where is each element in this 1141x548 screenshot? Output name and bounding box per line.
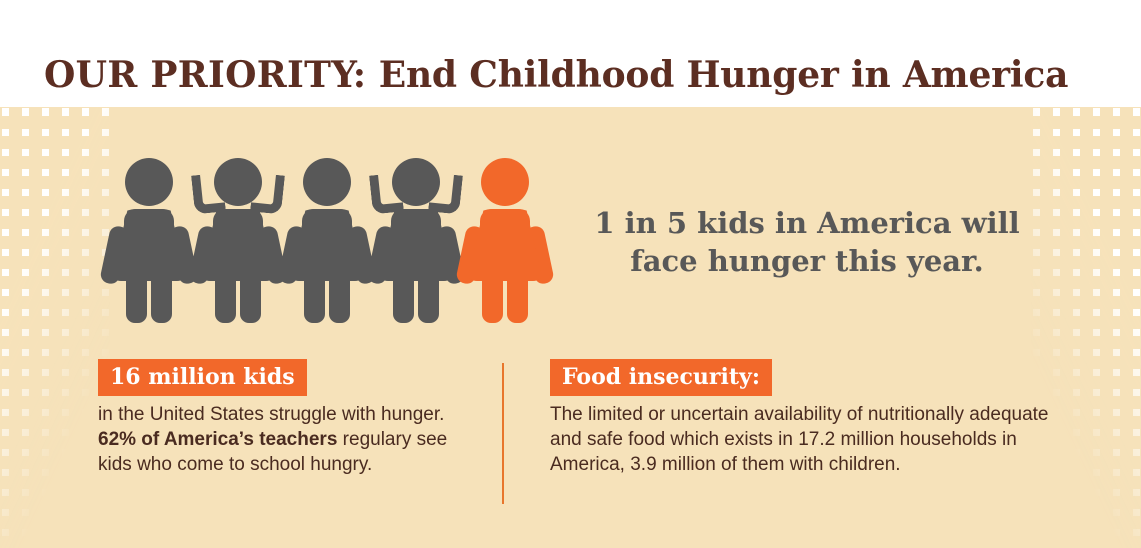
left-text-bold-teachers: 62% of America’s teachers [98, 429, 337, 450]
content-panel: 1 in 5 kids in America will face hunger … [0, 107, 1141, 548]
badge-food-insecurity: Food insecurity: [550, 359, 772, 396]
headline-line-1: 1 in 5 kids in America will [566, 204, 1048, 242]
infographic-root: OUR PRIORITY: End Childhood Hunger in Am… [0, 0, 1141, 548]
child-figure-2-girl-gray [192, 158, 284, 323]
person-shoulders [124, 209, 174, 235]
person-leg-right [240, 270, 261, 323]
child-figure-3-boy-gray [281, 158, 373, 323]
badge-16-million-kids: 16 million kids [98, 359, 307, 396]
vertical-divider [502, 363, 504, 504]
child-figure-1-boy-gray [103, 158, 195, 323]
stat-block-right: Food insecurity: The limited or uncertai… [550, 359, 1050, 477]
left-text-part-1: in the United States struggle with hunge… [98, 404, 444, 425]
people-pictogram-group [103, 158, 563, 323]
person-shoulders [213, 209, 263, 235]
person-head-icon [214, 158, 262, 206]
title-band: OUR PRIORITY: End Childhood Hunger in Am… [0, 0, 1141, 107]
person-shoulders [480, 209, 530, 235]
person-shoulders [391, 209, 441, 235]
person-leg-left [482, 270, 503, 323]
page-title-rest: End Childhood Hunger in America [366, 54, 1068, 96]
stat-block-left-text: in the United States struggle with hunge… [98, 402, 470, 477]
person-leg-right [151, 270, 172, 323]
dot-pattern-right-decoration [1031, 107, 1141, 548]
page-title: OUR PRIORITY: End Childhood Hunger in Am… [44, 54, 1068, 96]
person-leg-right [418, 270, 439, 323]
headline-line-2: face hunger this year. [566, 242, 1048, 280]
child-figure-4-girl-gray [370, 158, 462, 323]
person-leg-right [329, 270, 350, 323]
person-leg-left [393, 270, 414, 323]
person-leg-left [304, 270, 325, 323]
person-leg-right [507, 270, 528, 323]
headline-statistic: 1 in 5 kids in America will face hunger … [566, 204, 1048, 280]
stat-block-right-text: The limited or uncertain availability of… [550, 402, 1050, 477]
dot-pattern-left-decoration [0, 107, 110, 548]
person-head-icon [481, 158, 529, 206]
person-head-icon [125, 158, 173, 206]
person-leg-left [126, 270, 147, 323]
person-head-icon [303, 158, 351, 206]
stat-block-left: 16 million kids in the United States str… [98, 359, 470, 477]
page-title-lead: OUR PRIORITY: [44, 54, 366, 96]
person-shoulders [302, 209, 352, 235]
person-head-icon [392, 158, 440, 206]
child-figure-5-boy-orange-highlighted [459, 158, 551, 323]
person-leg-left [215, 270, 236, 323]
